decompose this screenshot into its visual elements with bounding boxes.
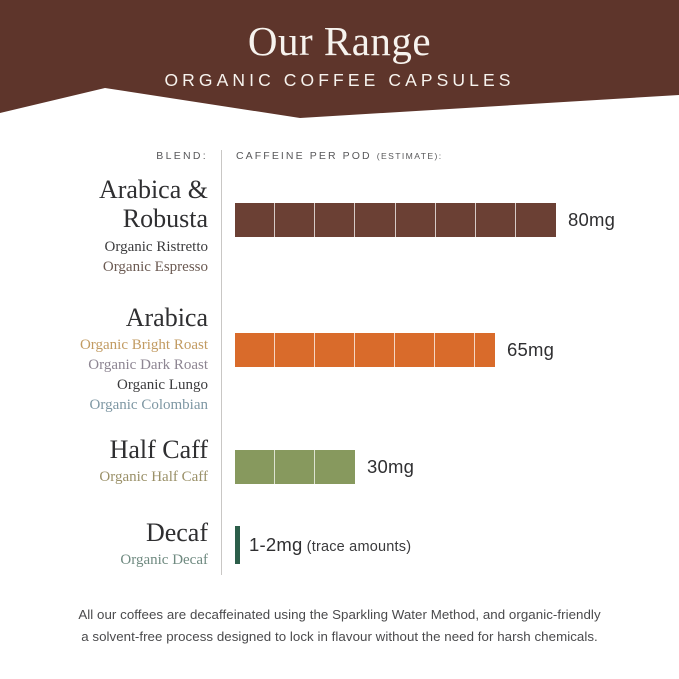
caffeine-value-label: 1-2mg (trace amounts): [249, 534, 411, 556]
column-divider: [221, 150, 222, 575]
blend-sub-items: Organic Half Caff: [0, 468, 208, 488]
caffeine-bar: [235, 450, 355, 484]
blend-sub-item: Organic Decaf: [0, 551, 208, 571]
caffeine-bar-segment: [235, 203, 275, 237]
blend-name: Decaf: [0, 518, 208, 547]
blend-sub-items: Organic Bright RoastOrganic Dark RoastOr…: [0, 336, 208, 416]
caffeine-bar-group: 80mg: [235, 203, 615, 237]
blend-info: Half CaffOrganic Half Caff: [0, 435, 208, 488]
caffeine-bar-segment: [235, 333, 275, 367]
caffeine-bar: [235, 333, 495, 367]
caffeine-bar-segment: [395, 333, 435, 367]
caffeine-bar-segment: [476, 203, 516, 237]
caffeine-column-header: CAFFEINE PER POD (ESTIMATE):: [236, 150, 443, 162]
caffeine-bar: [235, 203, 556, 237]
caffeine-bar-group: 30mg: [235, 450, 414, 484]
caffeine-bar-group: 1-2mg (trace amounts): [235, 526, 411, 564]
caffeine-column-header-main: CAFFEINE PER POD: [236, 150, 377, 162]
footer-note: All our coffees are decaffeinated using …: [0, 604, 679, 647]
caffeine-bar-group: 65mg: [235, 333, 554, 367]
banner-shape: [0, 0, 679, 125]
caffeine-value-amount: 65mg: [507, 339, 554, 360]
caffeine-value-note: (trace amounts): [302, 539, 411, 555]
caffeine-value-amount: 80mg: [568, 209, 615, 230]
blend-sub-item: Organic Ristretto: [0, 238, 208, 258]
blend-sub-item: Organic Dark Roast: [0, 356, 208, 376]
caffeine-bar-segment: [435, 333, 475, 367]
caffeine-bar-segment: [235, 450, 275, 484]
caffeine-bar-segment: [315, 203, 355, 237]
caffeine-value-amount: 1-2mg: [249, 534, 302, 555]
caffeine-value-label: 65mg: [507, 339, 554, 361]
caffeine-bar-segment: [315, 333, 355, 367]
caffeine-bar-segment: [436, 203, 476, 237]
blend-name: Arabica: [0, 303, 208, 332]
caffeine-value-label: 80mg: [568, 209, 615, 231]
caffeine-bar-segment: [275, 333, 315, 367]
caffeine-bar-segment: [396, 203, 436, 237]
blend-info: DecafOrganic Decaf: [0, 518, 208, 571]
blend-info: ArabicaOrganic Bright RoastOrganic Dark …: [0, 303, 208, 416]
blend-sub-item: Organic Espresso: [0, 258, 208, 278]
blend-sub-items: Organic RistrettoOrganic Espresso: [0, 238, 208, 278]
caffeine-bar-segment: [516, 203, 556, 237]
caffeine-bar-segment: [275, 450, 315, 484]
blend-name: Arabica & Robusta: [0, 175, 208, 234]
caffeine-bar-segment: [355, 203, 395, 237]
caffeine-bar-segment-partial: [475, 333, 495, 367]
caffeine-trace-bar: [235, 526, 240, 564]
blend-sub-item: Organic Lungo: [0, 376, 208, 396]
caffeine-column-header-estimate: (ESTIMATE):: [377, 151, 443, 161]
blend-sub-items: Organic Decaf: [0, 551, 208, 571]
blend-sub-item: Organic Bright Roast: [0, 336, 208, 356]
blend-info: Arabica & RobustaOrganic RistrettoOrgani…: [0, 175, 208, 278]
caffeine-value-label: 30mg: [367, 456, 414, 478]
caffeine-bar-segment: [315, 450, 355, 484]
blend-column-header: BLEND:: [156, 150, 208, 162]
column-headers: BLEND: CAFFEINE PER POD (ESTIMATE):: [0, 150, 679, 172]
blend-sub-item: Organic Colombian: [0, 396, 208, 416]
header-banner: Our Range ORGANIC COFFEE CAPSULES: [0, 0, 679, 125]
blend-name: Half Caff: [0, 435, 208, 464]
blend-sub-item: Organic Half Caff: [0, 468, 208, 488]
caffeine-bar-segment: [275, 203, 315, 237]
caffeine-value-amount: 30mg: [367, 456, 414, 477]
caffeine-bar-segment: [355, 333, 395, 367]
